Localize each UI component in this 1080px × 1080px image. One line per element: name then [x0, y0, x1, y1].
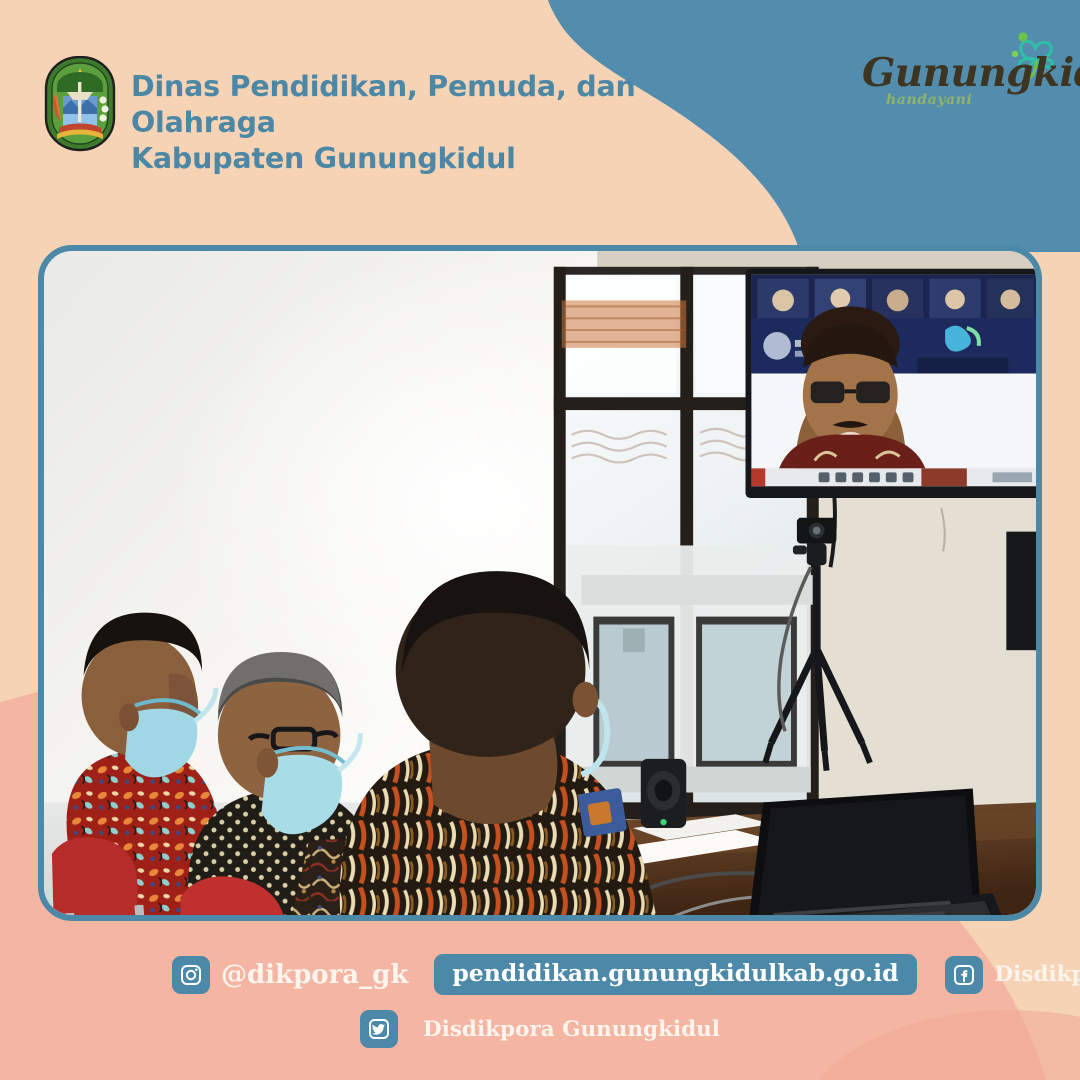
meeting-room-video-conference-photo	[38, 245, 1042, 921]
instagram-icon[interactable]	[172, 956, 210, 994]
social-row-secondary: Disdikpora Gunungkidul	[0, 1010, 1080, 1048]
gunungkidul-regency-crest-icon	[43, 56, 117, 152]
poster-canvas: Dinas Pendidikan, Pemuda, dan Olahraga K…	[0, 0, 1080, 1080]
instagram-handle[interactable]: @dikpora_gk	[221, 960, 408, 990]
photo-illustration	[44, 251, 1036, 915]
laptop	[736, 789, 1009, 915]
photo-inner	[44, 251, 1036, 915]
gunungkidul-tagline: handayani	[886, 92, 972, 108]
conference-speaker	[641, 759, 686, 828]
org-title-line-1: Dinas Pendidikan, Pemuda, dan Olahraga	[131, 70, 636, 139]
facebook-page-name[interactable]: Disdikpora Gunungkidul	[995, 962, 1080, 987]
facebook-group: Disdikpora Gunungkidul	[945, 956, 1080, 994]
gunungkidul-wordmark: Gunungkidul	[862, 50, 1080, 96]
footer-social-bar: @dikpora_gk pendidikan.gunungkidulkab.go…	[0, 936, 1080, 1080]
twitter-icon[interactable]	[360, 1010, 398, 1048]
facebook-icon[interactable]	[945, 956, 983, 994]
gunungkidul-brand-logo: Gunungkidul handayani	[862, 36, 1057, 122]
website-url-pill[interactable]: pendidikan.gunungkidulkab.go.id	[434, 954, 916, 995]
twitter-page-name[interactable]: Disdikpora Gunungkidul	[423, 1017, 720, 1042]
header: Dinas Pendidikan, Pemuda, dan Olahraga K…	[0, 0, 1080, 200]
social-row-primary: @dikpora_gk pendidikan.gunungkidulkab.go…	[0, 954, 1080, 995]
org-title-line-2: Kabupaten Gunungkidul	[131, 141, 691, 177]
page-title: Dinas Pendidikan, Pemuda, dan Olahraga K…	[131, 69, 691, 177]
